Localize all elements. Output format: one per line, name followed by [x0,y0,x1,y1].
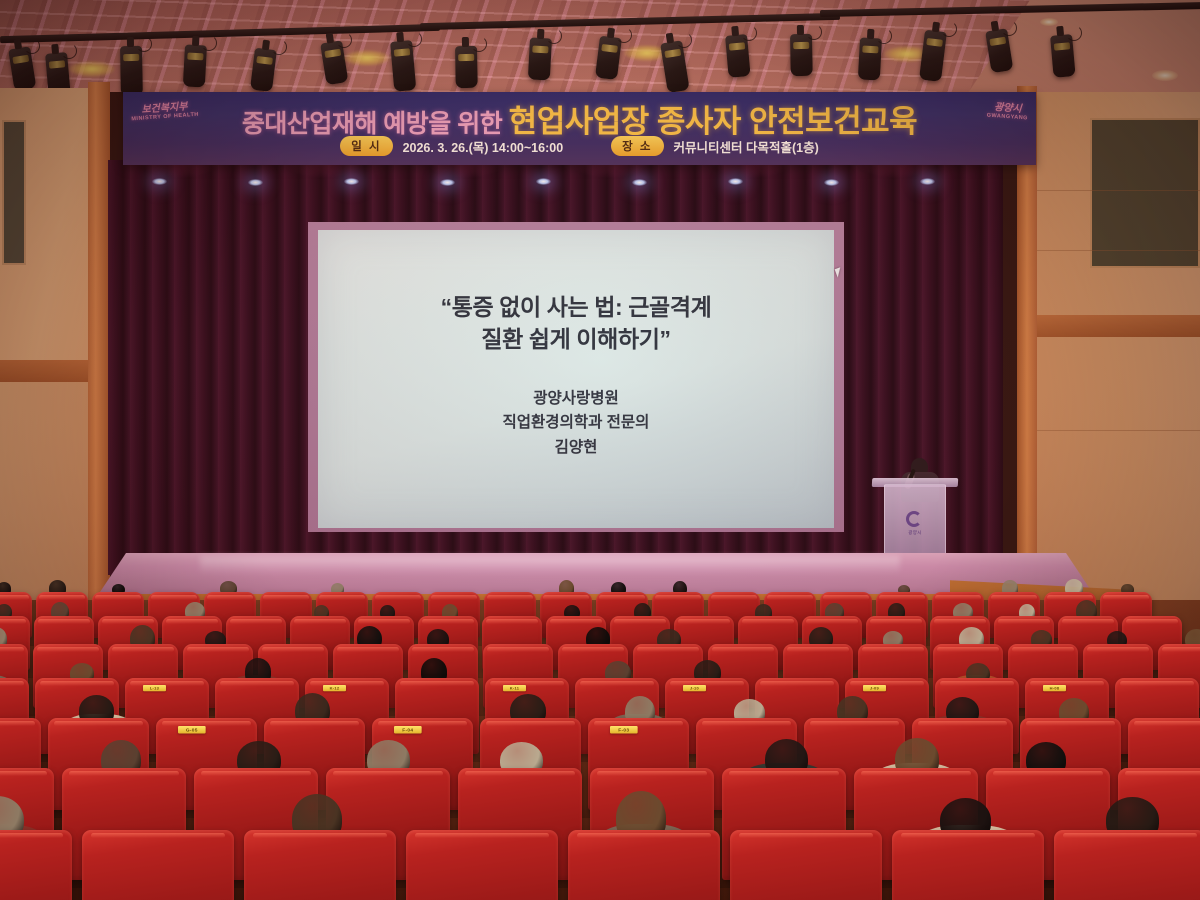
seat-number-tag: F-03 [610,726,638,733]
banner-title-part-2: 현업사업장 종사자 안전보건교육 [509,104,918,139]
slide-affiliation: 광양사랑병원 [503,387,650,411]
seat-number-tag: H-08 [1043,685,1066,691]
right-wall-seam [1035,430,1200,431]
auditorium-seat [568,830,720,900]
banner-title: 중대산업재해 예방을 위한 현업사업장 종사자 안전보건교육 [123,96,1036,141]
auditorium-seat [0,830,72,900]
stage-led-light [536,178,551,185]
lighting-cable [741,25,757,41]
stage-spotlight [183,44,207,87]
banner-right-logo: 광양시 GWANGYANG [986,103,1028,122]
lighting-cable [336,32,352,48]
stage-spotlight [390,40,416,92]
right-wall-chair-rail [1035,315,1200,337]
slide-department: 직업환경의학과 전문의 [503,411,650,435]
stage-led-light [824,179,839,186]
stage-spotlight [455,45,478,87]
podium-logo-icon [906,511,922,527]
stage-led-light [920,178,935,185]
auditorium-seat [730,830,882,900]
podium-logo-text: 광양시 [898,530,932,536]
auditorium-photo: “통증 없이 사는 법: 근골격계 질환 쉽게 이해하기” 광양사랑병원 직업환… [0,0,1200,900]
stage-led-light [344,178,359,185]
banner-details: 일 시 2026. 3. 26.(목) 14:00~16:00 장 소 커뮤니티… [123,136,1036,156]
lighting-cable [471,36,487,52]
stage-spotlight [858,38,882,81]
curtain-valance [108,160,1003,206]
lighting-cable [136,36,152,52]
seat-number-tag: G-05 [178,726,206,733]
lighting-cable [676,32,692,48]
stage-led-light [248,179,263,186]
stage-spotlight [120,46,143,96]
stage-spotlight [790,33,813,75]
left-acoustic-panel [2,120,26,265]
projection-screen: “통증 없이 사는 법: 근골격계 질환 쉽게 이해하기” 광양사랑병원 직업환… [318,230,834,528]
seat-number-tag: F-04 [394,726,422,733]
stage-led-light [728,178,743,185]
stage-led-light [440,179,455,186]
lighting-cable [941,21,957,37]
slide-title: “통증 없이 사는 법: 근골격계 질환 쉽게 이해하기” [441,292,712,355]
right-wall-seam [1035,250,1200,251]
slide-title-line-2: 질환 쉽게 이해하기” [441,324,712,356]
slide-presenter-block: 광양사랑병원 직업환경의학과 전문의 김양현 [503,387,650,459]
seat-number-tag: K-11 [503,685,526,691]
right-pilaster [1017,86,1037,634]
banner-place-label: 장 소 [611,136,663,156]
seat-number-tag: K-12 [323,685,346,691]
lighting-cable [406,31,422,47]
auditorium-seat [892,830,1044,900]
lighting-cable [806,24,822,40]
left-wall-wainscot [0,382,92,622]
stage-spotlight [528,38,552,81]
right-acoustic-panel [1090,118,1200,268]
lighting-cable [201,35,217,51]
slide-title-line-1: “통증 없이 사는 법: 근골격계 [441,292,712,324]
banner-date-label: 일 시 [340,136,392,156]
ceiling-downlight [1040,18,1058,26]
seat-number-tag: J-10 [683,685,706,691]
auditorium-seat [82,830,234,900]
lighting-cable [1066,25,1082,41]
auditorium-seat [406,830,558,900]
stage-led-light [632,179,647,186]
auditorium-seat [1054,830,1200,900]
seat-number-tag: L-13 [143,685,166,691]
event-banner: 보건복지부 MINISTRY OF HEALTH 중대산업재해 예방을 위한 현… [123,92,1036,165]
left-pilaster [88,82,110,627]
right-wall-seam [1035,190,1200,191]
stage-led-light [152,178,167,185]
seat-number-tag: J-09 [863,685,886,691]
lighting-cable [1001,20,1017,36]
banner-title-part-1: 중대산업재해 예방을 위한 [242,110,502,138]
banner-place-value: 커뮤니티센터 다목적홀(1층) [674,137,819,156]
lighting-cable [616,27,632,43]
ceiling-downlight [1152,70,1178,81]
banner-date-value: 2026. 3. 26.(목) 14:00~16:00 [403,137,564,156]
left-wall-chair-rail [0,360,92,382]
auditorium-seat [244,830,396,900]
slide-presenter-name: 김양현 [503,436,650,460]
lighting-cable [24,38,40,54]
stage-floor-light-sheen [200,556,900,574]
